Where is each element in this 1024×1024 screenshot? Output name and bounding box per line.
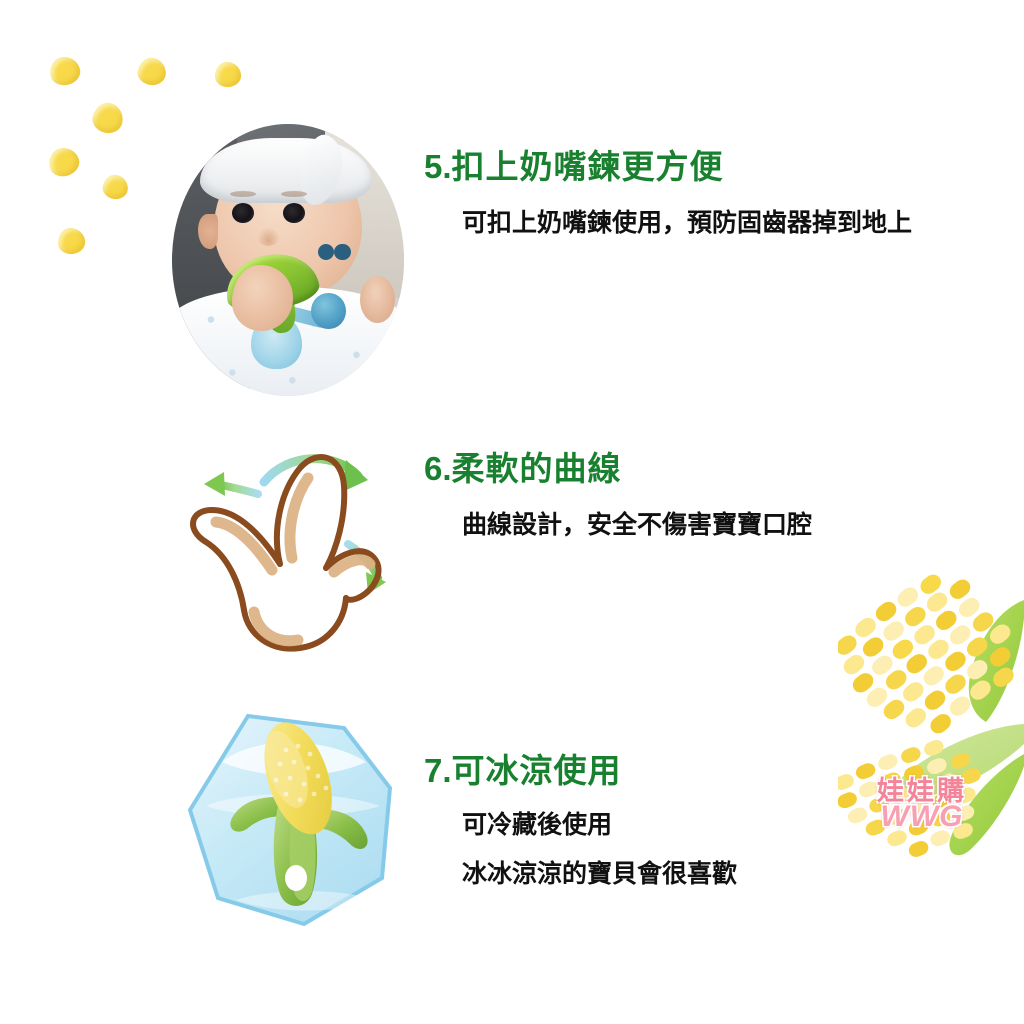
- section-7-number: 7.: [424, 752, 452, 789]
- section-7-line-1: 可冷藏後使用: [462, 807, 737, 845]
- watermark-english: WWG: [862, 802, 982, 832]
- ice-cube-svg: [176, 702, 408, 934]
- section-7-text: 7.可冰涼使用 可冷藏後使用 冰冰涼涼的寶貝會很喜歡: [424, 752, 737, 894]
- infographic-canvas: 5.扣上奶嘴鍊更方便 可扣上奶嘴鍊使用，預防固齒器掉到地上: [0, 0, 1024, 1024]
- watermark: 娃娃購 WWG: [862, 778, 982, 832]
- corn-in-ice-cube-illustration: [176, 702, 408, 934]
- section-7-heading-text: 可冰涼使用: [452, 752, 622, 789]
- section-7-heading: 7.可冰涼使用: [424, 752, 737, 791]
- section-7-line-2: 冰冰涼涼的寶貝會很喜歡: [462, 856, 737, 894]
